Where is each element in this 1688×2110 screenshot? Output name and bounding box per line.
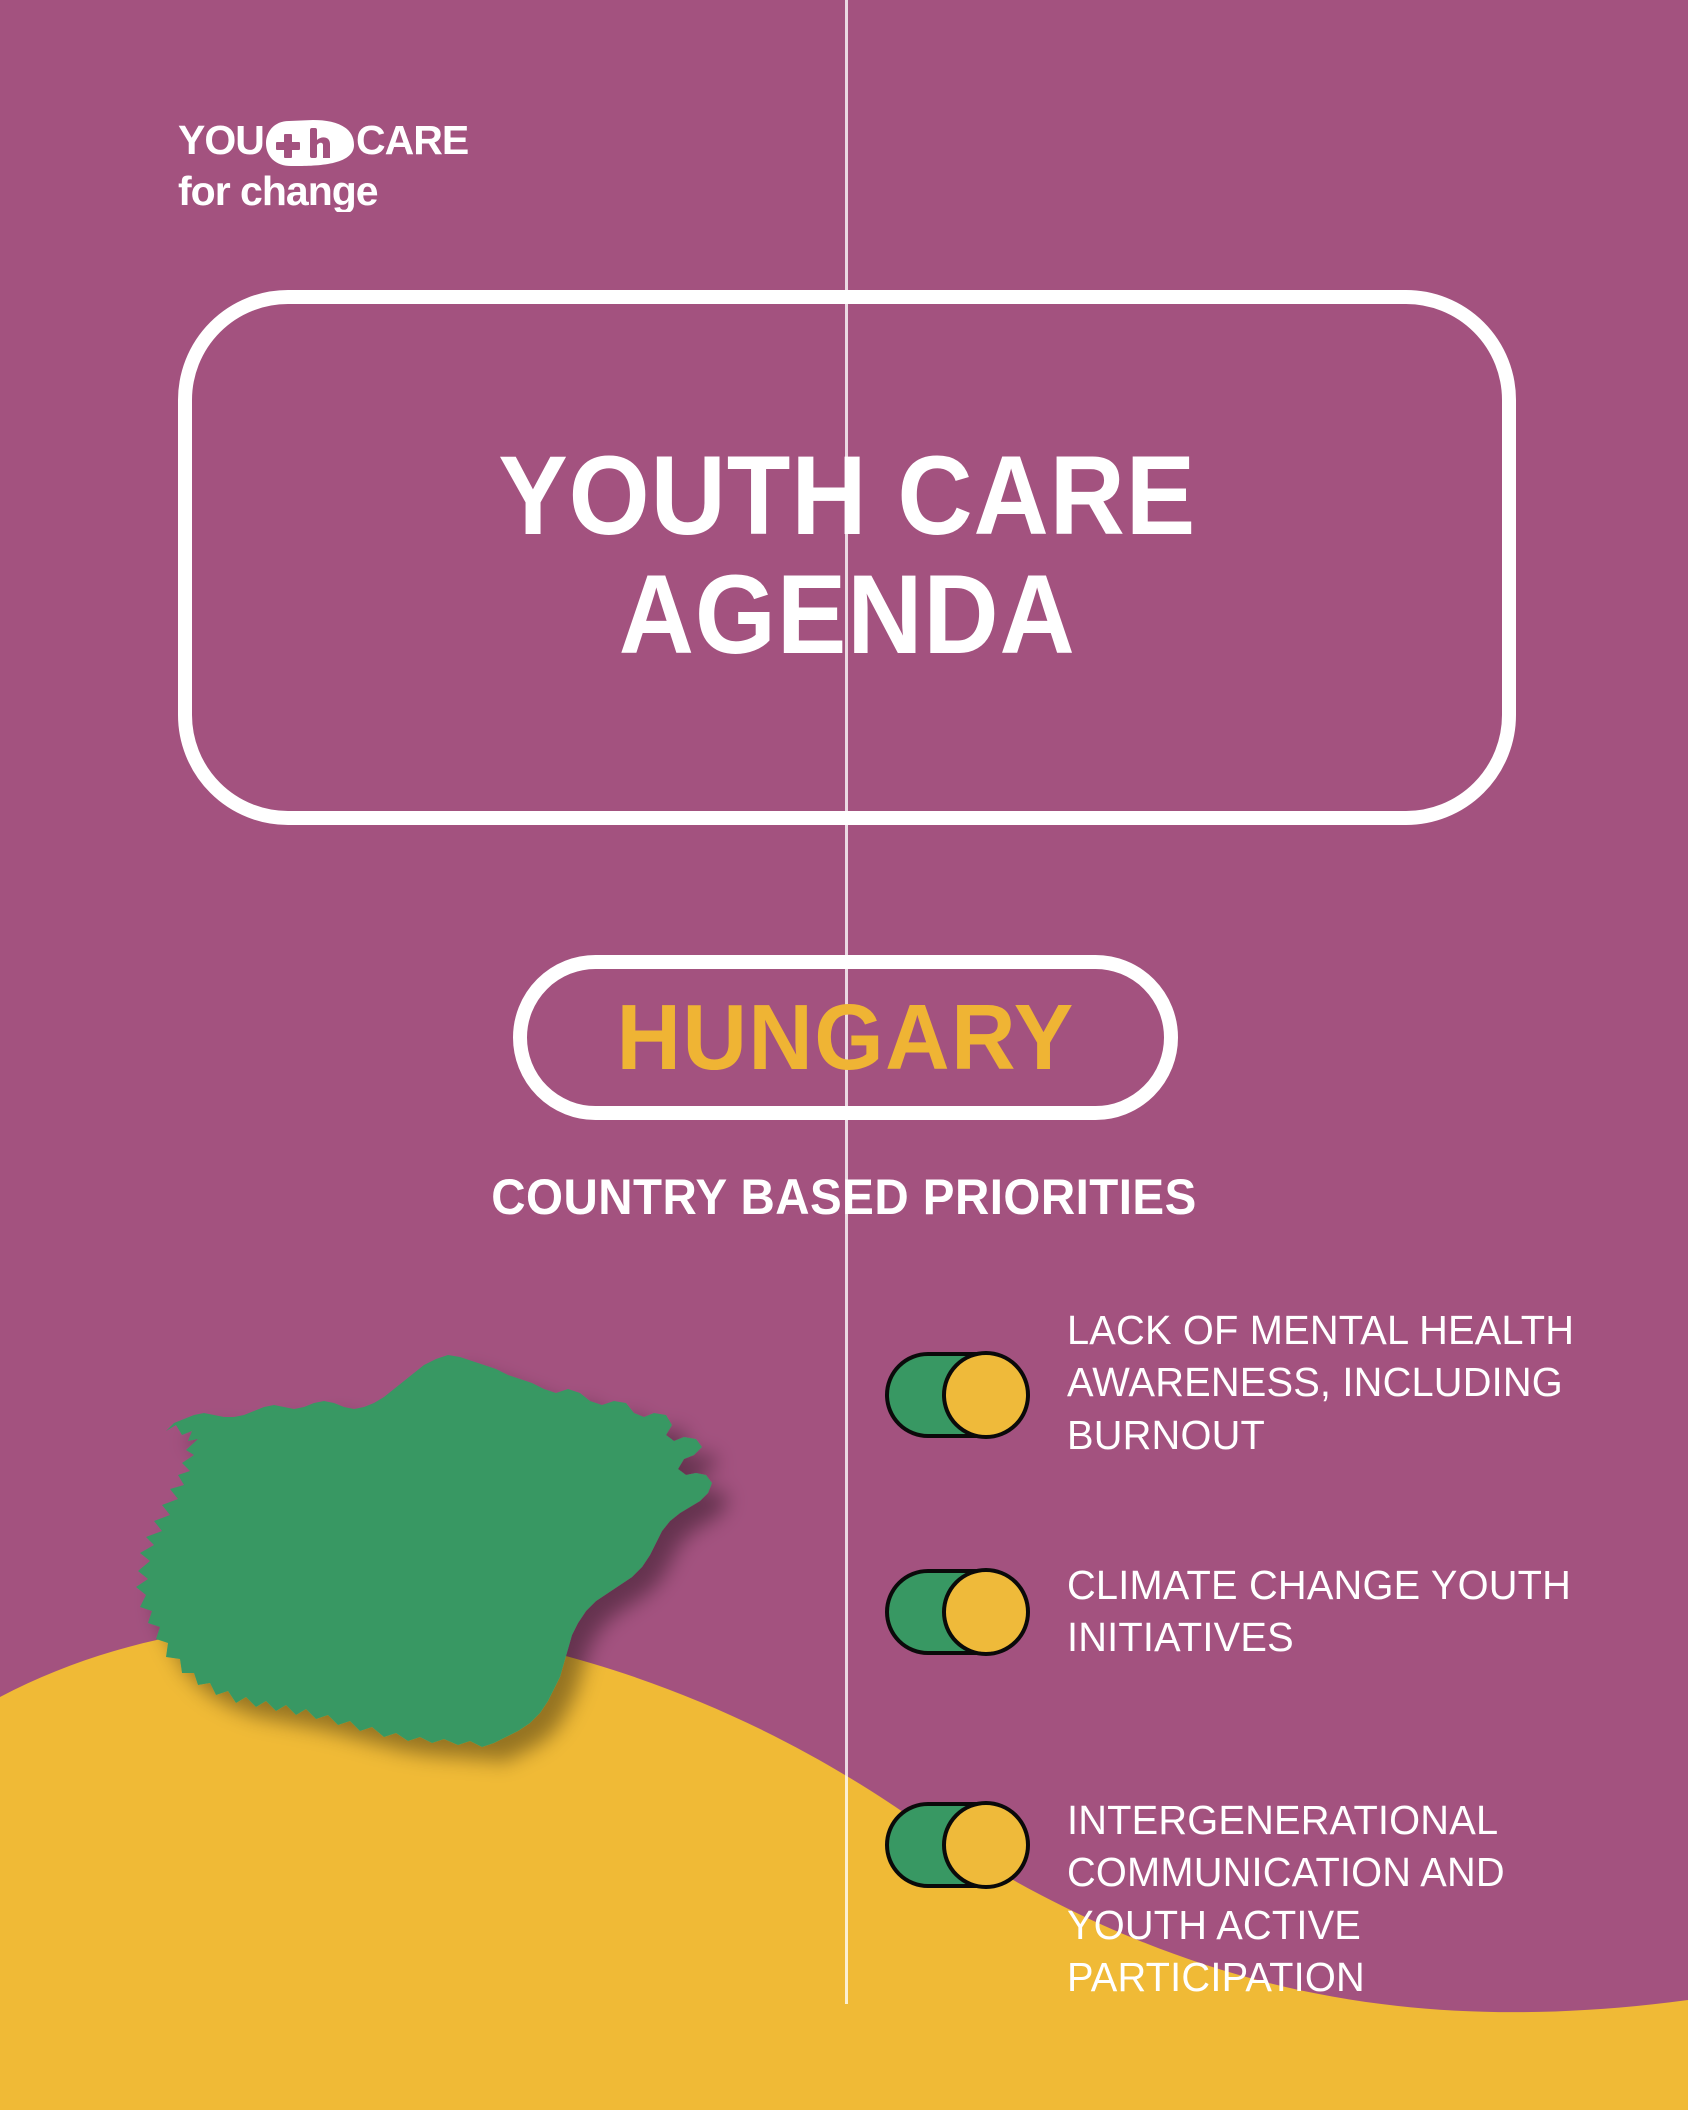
priority-label: CLIMATE CHANGE YOUTH INITIATIVES xyxy=(1067,1555,1608,1664)
youth-care-for-change-logo: YOU CARE for change xyxy=(178,112,498,212)
subtitle: COUNTRY BASED PRIORITIES xyxy=(42,1168,1646,1226)
priority-item[interactable]: CLIMATE CHANGE YOUTH INITIATIVES xyxy=(885,1555,1625,1664)
toggle-knob xyxy=(942,1801,1030,1889)
toggle-icon[interactable] xyxy=(885,1802,1027,1888)
svg-text:YOU: YOU xyxy=(178,117,264,163)
country-name: HUNGARY xyxy=(616,991,1074,1084)
priority-item[interactable]: INTERGENERATIONAL COMMUNICATION AND YOUT… xyxy=(885,1790,1625,2004)
toggle-knob xyxy=(942,1351,1030,1439)
toggle-knob xyxy=(942,1568,1030,1656)
toggle-icon[interactable] xyxy=(885,1352,1027,1438)
agenda-title-frame: YOUTH CARE AGENDA xyxy=(178,290,1516,825)
country-pill: HUNGARY xyxy=(513,955,1178,1120)
poster-canvas: YOU CARE for change YOUTH CARE AGENDA HU… xyxy=(0,0,1688,2110)
toggle-icon[interactable] xyxy=(885,1569,1027,1655)
page-title: YOUTH CARE AGENDA xyxy=(498,437,1196,678)
priority-label: LACK OF MENTAL HEALTH AWARENESS, INCLUDI… xyxy=(1067,1300,1608,1461)
hungary-map xyxy=(70,1345,760,1815)
priority-item[interactable]: LACK OF MENTAL HEALTH AWARENESS, INCLUDI… xyxy=(885,1300,1625,1461)
svg-text:CARE: CARE xyxy=(356,117,468,163)
svg-text:for change: for change xyxy=(178,168,378,212)
priority-label: INTERGENERATIONAL COMMUNICATION AND YOUT… xyxy=(1067,1790,1608,2004)
